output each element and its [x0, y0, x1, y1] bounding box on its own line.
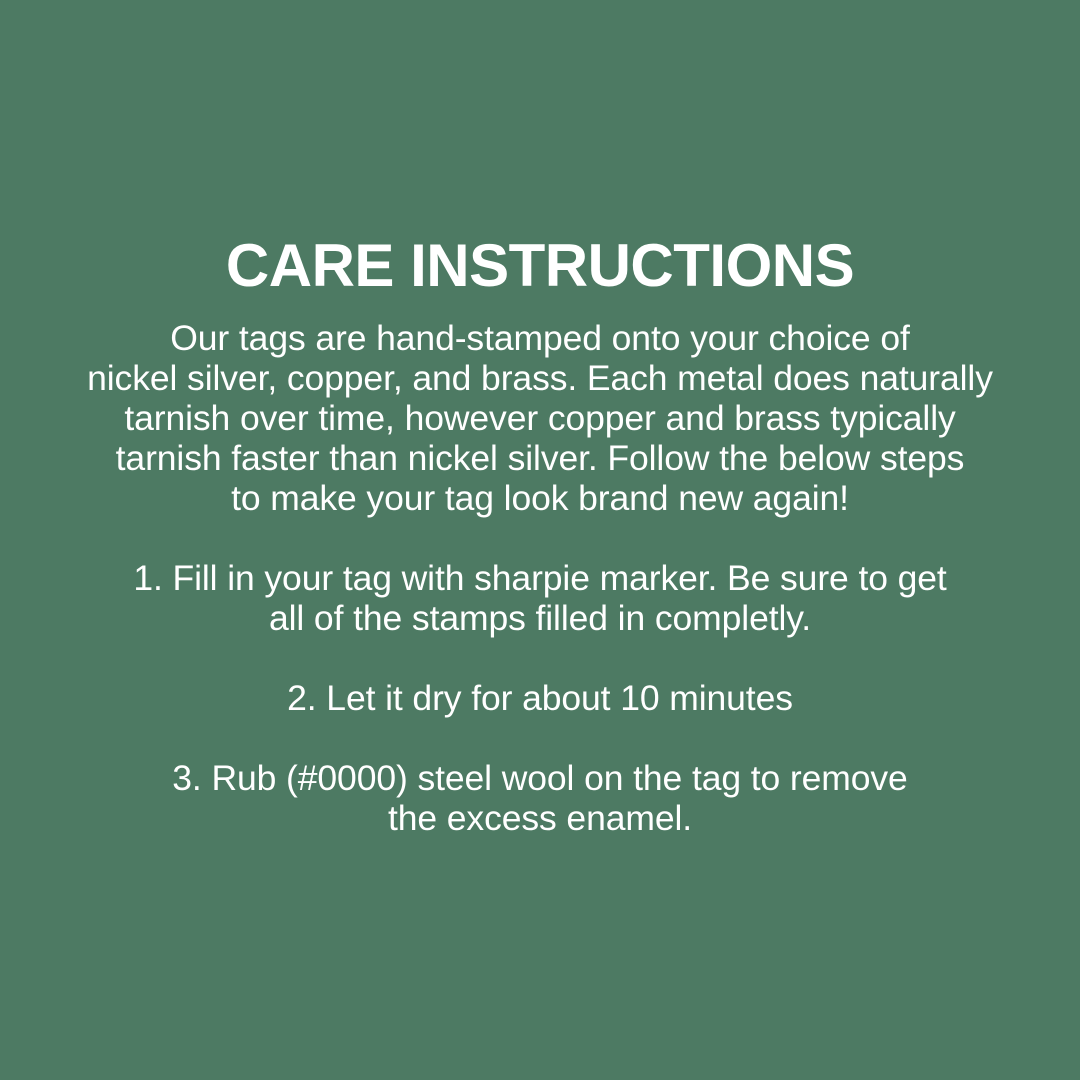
instructions-content: Our tags are hand-stamped onto your choi…: [45, 296, 1035, 838]
step-item: 3. Rub (#0000) steel wool on the tag to …: [45, 718, 1035, 838]
intro-line: to make your tag look brand new again!: [45, 478, 1035, 518]
step-line: the excess enamel.: [45, 798, 1035, 838]
page-title: CARE INSTRUCTIONS: [226, 0, 854, 296]
step-line: all of the stamps filled in completly.: [45, 598, 1035, 638]
intro-line: tarnish over time, however copper and br…: [45, 398, 1035, 438]
step-line: 1. Fill in your tag with sharpie marker.…: [45, 558, 1035, 598]
steps-list: 1. Fill in your tag with sharpie marker.…: [45, 518, 1035, 838]
step-item: 1. Fill in your tag with sharpie marker.…: [45, 518, 1035, 638]
intro-line: tarnish faster than nickel silver. Follo…: [45, 438, 1035, 478]
intro-line: nickel silver, copper, and brass. Each m…: [45, 358, 1035, 398]
step-line: 2. Let it dry for about 10 minutes: [45, 678, 1035, 718]
intro-paragraph: Our tags are hand-stamped onto your choi…: [45, 296, 1035, 518]
intro-line: Our tags are hand-stamped onto your choi…: [45, 318, 1035, 358]
care-instructions-card: CARE INSTRUCTIONS Our tags are hand-stam…: [0, 0, 1080, 1080]
step-line: 3. Rub (#0000) steel wool on the tag to …: [45, 758, 1035, 798]
step-item: 2. Let it dry for about 10 minutes: [45, 638, 1035, 718]
